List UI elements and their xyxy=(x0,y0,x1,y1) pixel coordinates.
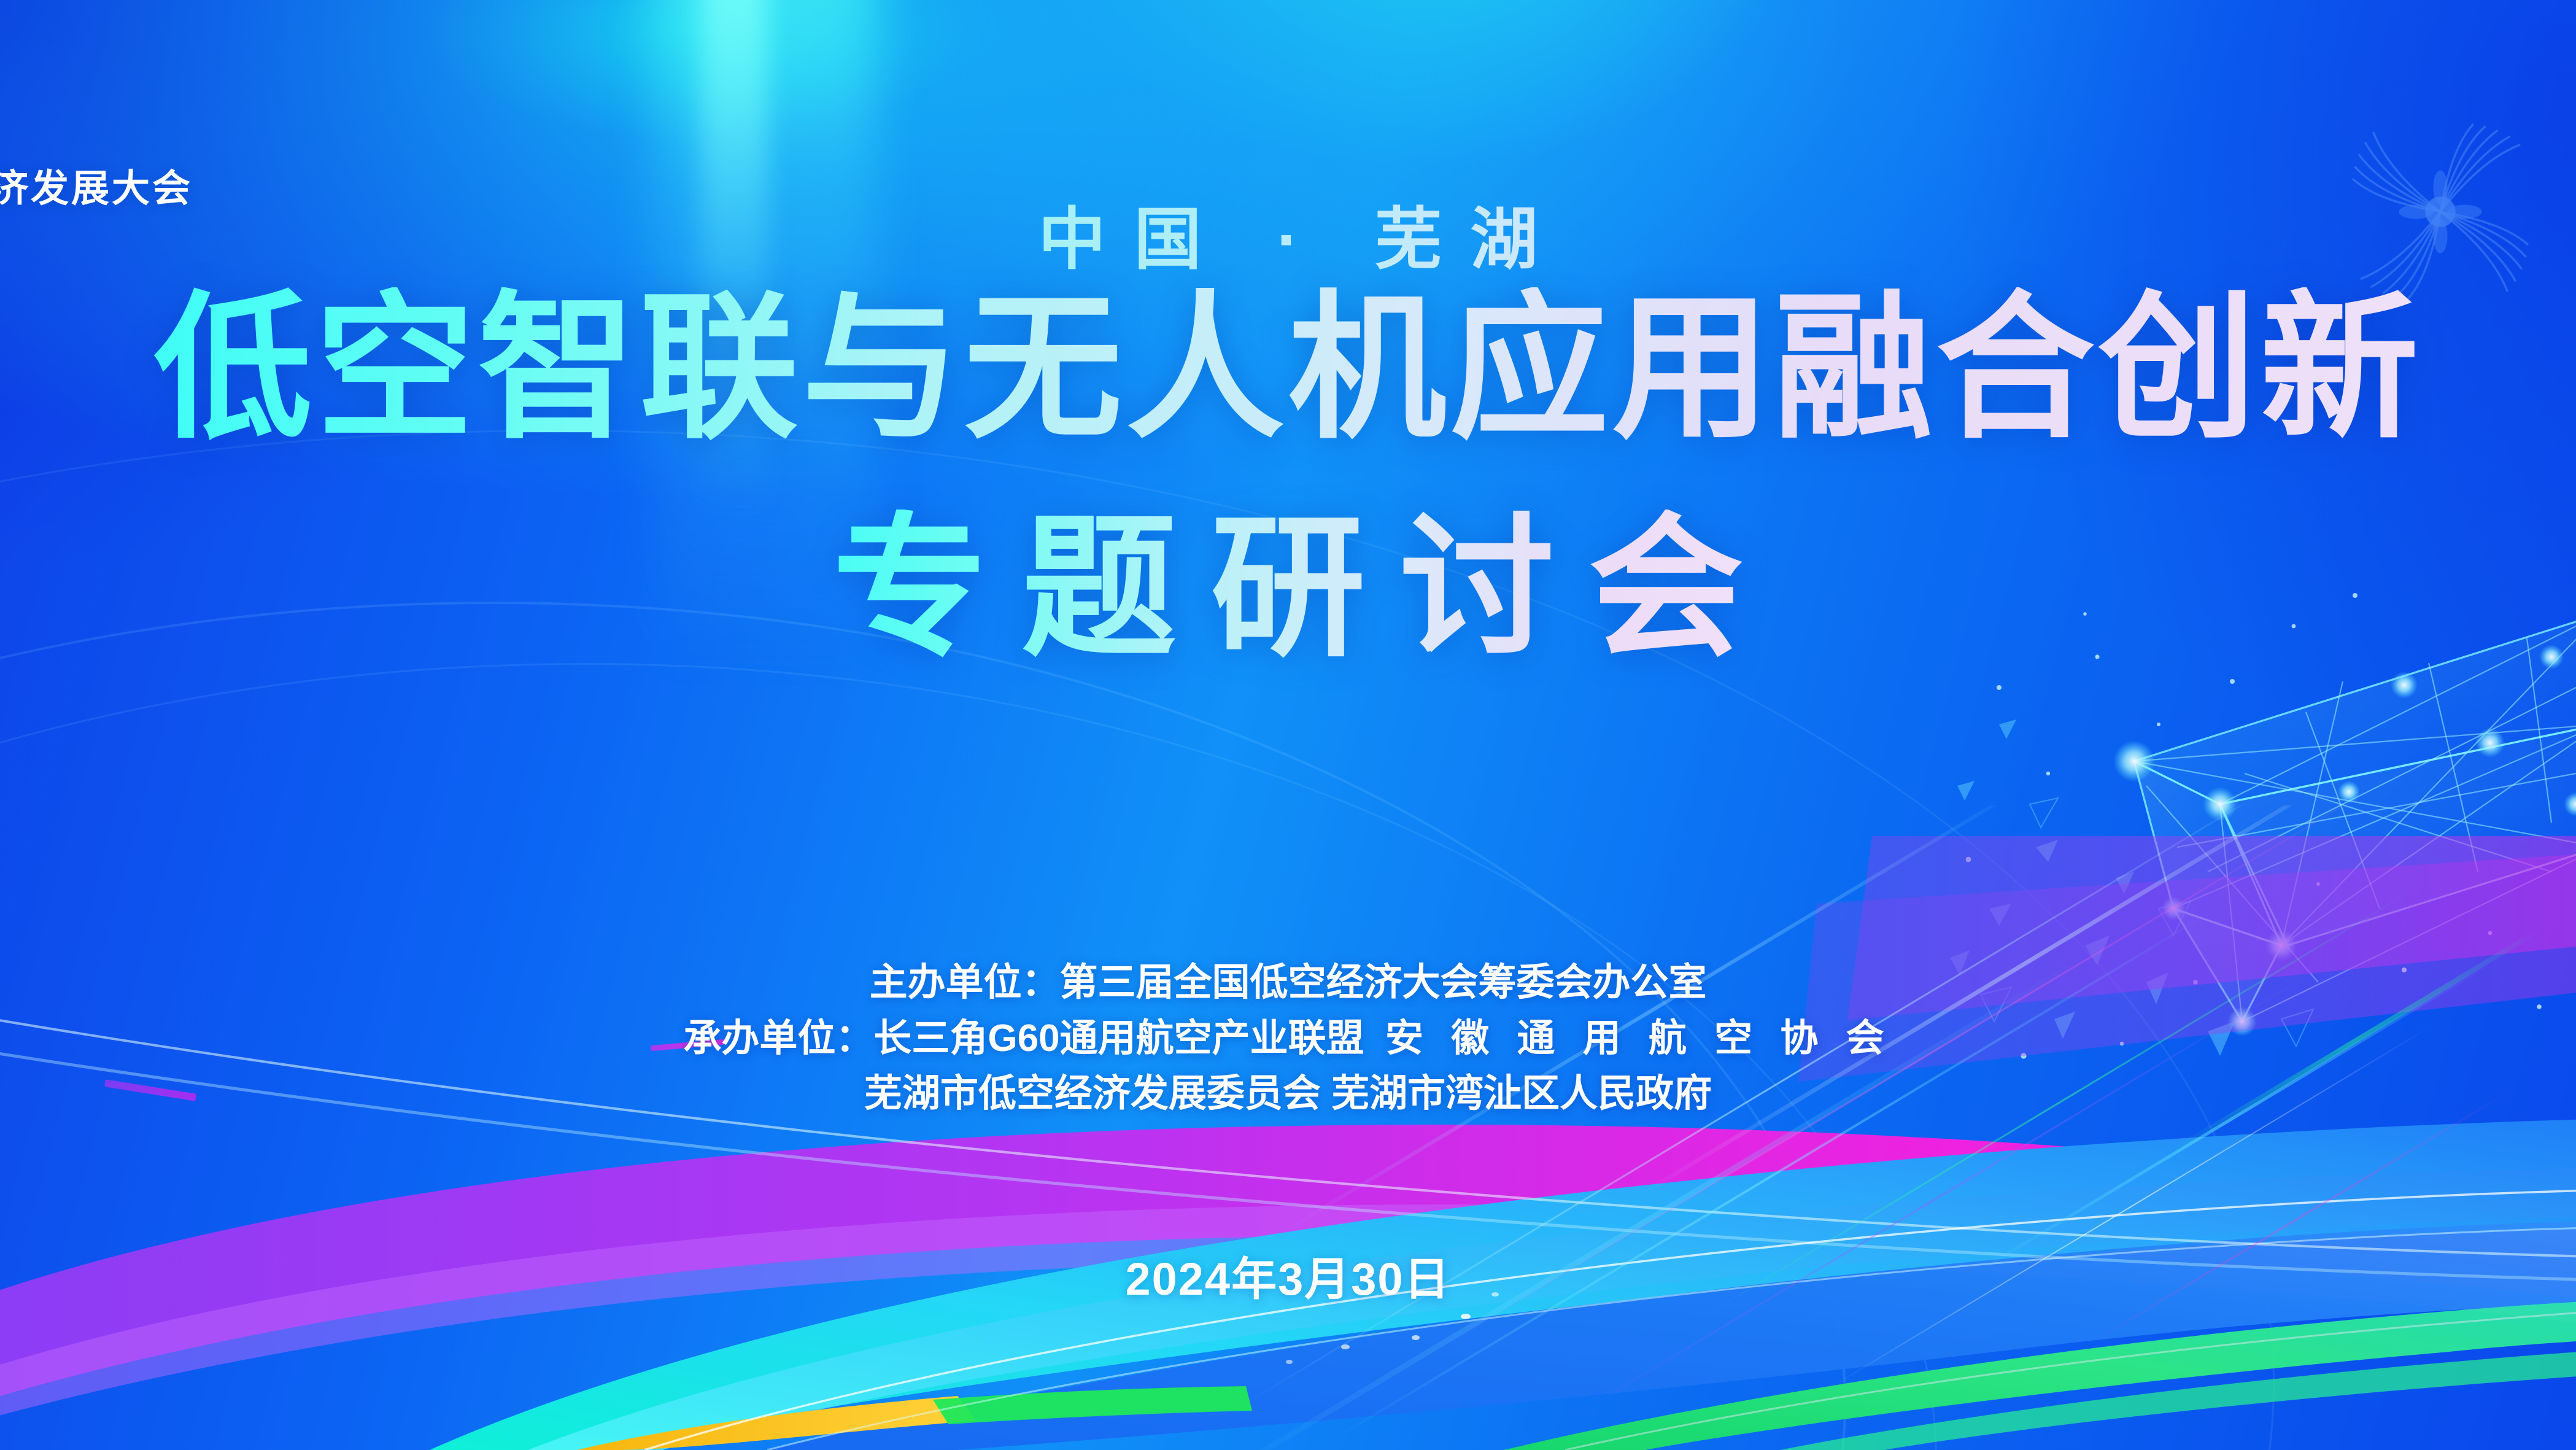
organizer-coorganizer-prefix: 承办单位：长三角G60通用航空产业联盟 xyxy=(683,1017,1364,1060)
sparkle-dot xyxy=(1286,1360,1293,1364)
conference-banner: 济发展大会 中国 · 芜湖 低空智联与无人机应用融合创新 专题研讨会 主办单位：… xyxy=(0,0,2576,1450)
sparkle-dot xyxy=(1461,1314,1471,1319)
sparkle-dot xyxy=(1341,1344,1350,1349)
event-date: 2024年3月30日 xyxy=(0,1243,2576,1308)
page-title-line-1: 低空智联与无人机应用融合创新 xyxy=(154,287,2423,449)
organizer-block: 主办单位：第三届全国低空经济大会筹委会办公室 承办单位：长三角G60通用航空产业… xyxy=(0,955,2576,1122)
organizer-line-host: 主办单位：第三届全国低空经济大会筹委会办公室 xyxy=(0,955,2576,1011)
organizer-coorganizer-association: 安 徽 通 用 航 空 协 会 xyxy=(1385,1017,1893,1060)
diagonal-light-streaks xyxy=(1164,805,2576,1450)
page-title-line-2: 专题研讨会 xyxy=(798,510,1777,667)
organizer-line-support: 芜湖市低空经济发展委员会 芜湖市湾沚区人民政府 xyxy=(0,1066,2576,1122)
organizer-line-coorganizer: 承办单位：长三角G60通用航空产业联盟 安 徽 通 用 航 空 协 会 xyxy=(0,1011,2576,1067)
sparkle-dot xyxy=(1412,1335,1420,1340)
location-subtitle: 中国 · 芜湖 xyxy=(0,184,2576,282)
